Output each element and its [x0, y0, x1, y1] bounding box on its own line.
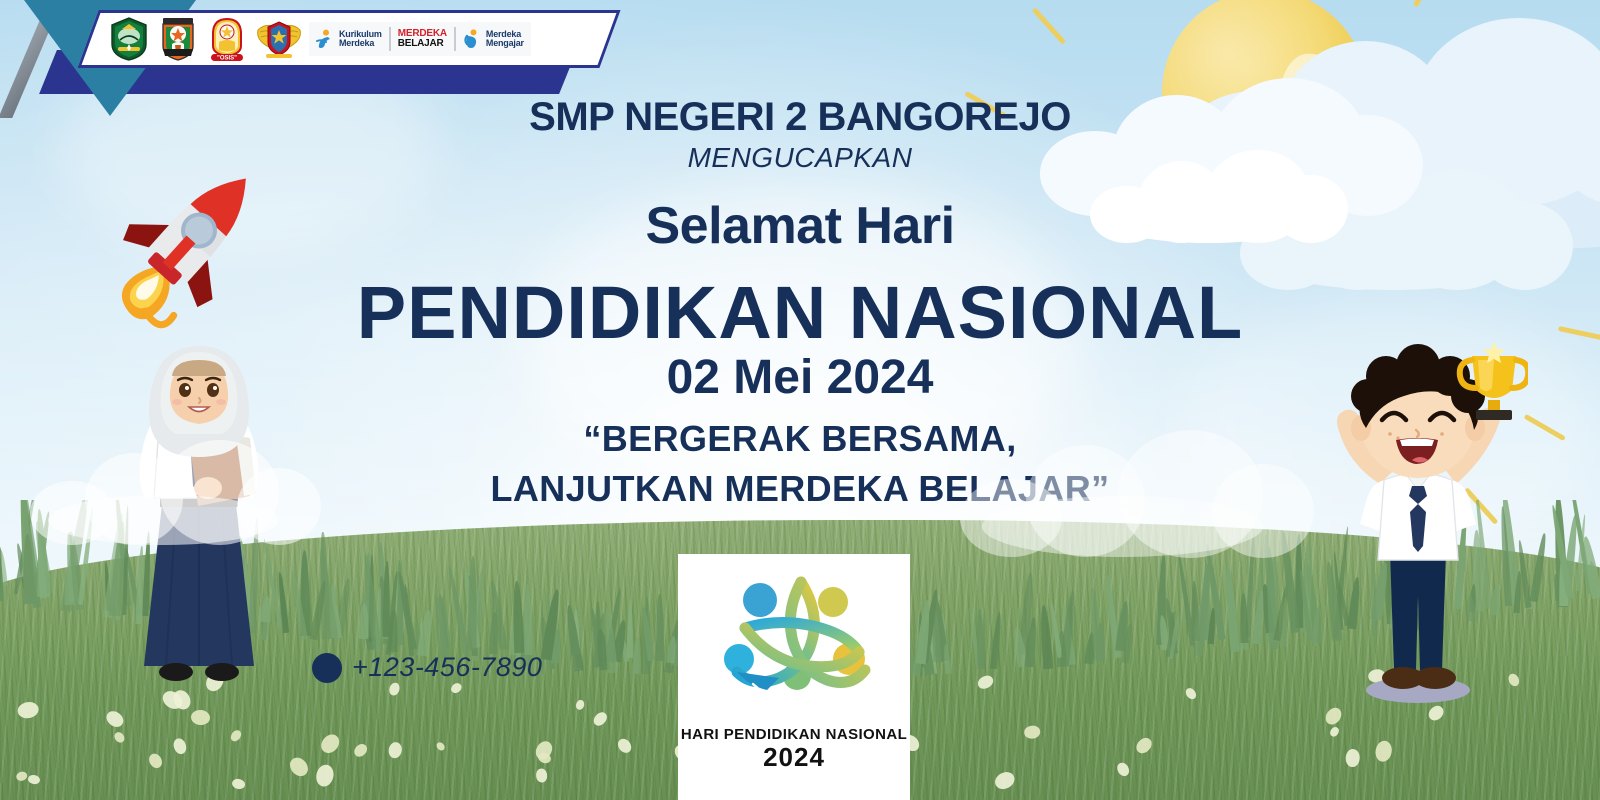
hardiknas-year: 2024 — [763, 744, 825, 770]
merdeka-mengajar-label: Merdeka Mengajar — [486, 30, 524, 48]
osis-emblem: "OSIS" — [207, 16, 247, 62]
hardiknas-title: HARI PENDIDIKAN NASIONAL — [681, 726, 907, 743]
program-logos-box: Kurikulum Merdeka MERDEKA BELAJAR Merdek… — [309, 22, 531, 56]
kurikulum-merdeka-icon — [316, 29, 332, 49]
phone-number: +123-456-7890 — [352, 652, 542, 683]
svg-text:"OSIS": "OSIS" — [217, 56, 237, 62]
phone-icon — [312, 653, 342, 683]
logo-separator — [454, 27, 456, 51]
logo-strip: "OSIS" — [77, 10, 620, 68]
tut-wuri-handayani-emblem — [256, 16, 296, 62]
rocket-icon — [105, 145, 285, 340]
cloud-icon — [1090, 150, 1313, 243]
student-boy-illustration — [1308, 334, 1528, 712]
hardiknas-logo-card: HARI PENDIDIKAN NASIONAL 2024 — [678, 554, 910, 800]
header-banner: "OSIS" — [0, 0, 680, 120]
cloud-puff — [982, 496, 1263, 557]
cloud-puff — [1106, 198, 1311, 243]
logo-separator — [389, 27, 391, 51]
merdeka-mengajar-icon — [463, 29, 479, 49]
provinsi-jawa-timur-emblem — [109, 16, 149, 62]
cloud-puff — [48, 495, 279, 545]
hardiknas-star-mark — [709, 566, 879, 724]
merdeka-belajar-label: MERDEKA BELAJAR — [398, 29, 447, 49]
kurikulum-merdeka-label: Kurikulum Merdeka — [339, 30, 382, 48]
cloud-icon — [30, 440, 282, 545]
contact-phone: +123-456-7890 — [312, 652, 542, 683]
kabupaten-banyuwangi-emblem — [158, 16, 198, 62]
cloud-icon — [960, 430, 1266, 558]
